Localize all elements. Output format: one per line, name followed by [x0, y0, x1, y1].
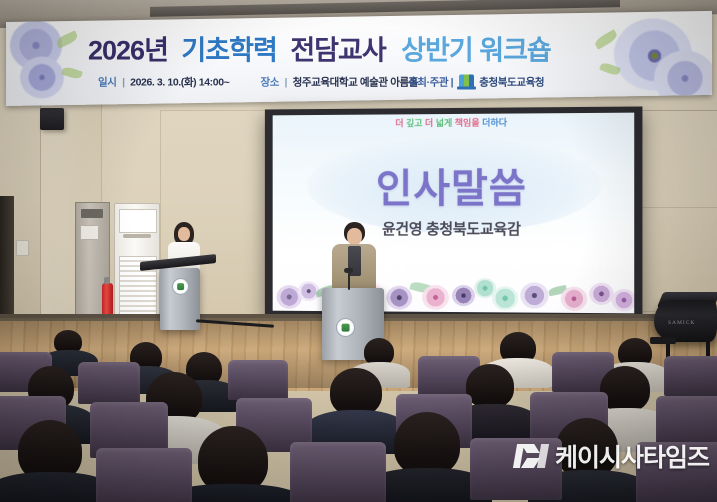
- piano-leg: [706, 336, 710, 358]
- side-podium-emblem-icon: [172, 278, 189, 295]
- banner-separator: |: [285, 76, 288, 88]
- event-banner: 2026년 기초학력 전담교사 상반기 워크숍 일시 | 2026. 3. 10…: [6, 11, 712, 106]
- slogan-word-3: 더: [425, 118, 433, 128]
- pansy-flower: [520, 282, 548, 308]
- slogan-word-5: 책임을: [455, 118, 480, 128]
- slogan-word-2: 깊고: [406, 118, 422, 128]
- speaker-face: [347, 228, 362, 245]
- slide-subtitle: 윤건영 충청북도교육감: [273, 218, 635, 239]
- banner-date-value: 2026. 3. 10.(화) 14:00~: [130, 76, 229, 88]
- banner-title-part-2: 기초학력: [181, 32, 276, 68]
- wall-panel: [640, 110, 717, 208]
- fire-extinguisher: [102, 283, 113, 315]
- auditorium-seat: [228, 360, 288, 400]
- pansy-flower: [386, 286, 412, 310]
- banner-separator: |: [451, 76, 454, 88]
- slogan-word-4: 넓게: [436, 118, 453, 128]
- k-logo-icon: [515, 441, 549, 471]
- banner-host-value: 충청북도교육청: [479, 76, 544, 88]
- ac-vent-slot: [123, 234, 151, 238]
- slogan-word-1: 더: [395, 118, 403, 128]
- auditorium-seat: [96, 448, 192, 502]
- wall-outlet-plate: [16, 240, 29, 256]
- watercolor-flower: [20, 56, 64, 98]
- watermark: 케이시사타임즈: [515, 438, 709, 474]
- banner-title-part-1: 2026년: [88, 32, 168, 68]
- main-podium-emblem-icon: [336, 318, 355, 337]
- piano-brand-label: SAMICK: [668, 320, 695, 326]
- pansy-flower: [452, 285, 475, 306]
- banner-host-label: 주최·주관: [408, 76, 448, 88]
- slide-slogan: 더 깊고 더 넓게 책임을 더하다: [273, 115, 635, 130]
- microphone-stem: [348, 272, 350, 290]
- door-sign: [80, 225, 99, 240]
- piano-bench: [650, 337, 676, 344]
- auditorium-seat: [290, 442, 386, 502]
- audience-head: [330, 368, 382, 416]
- moderator-face: [178, 227, 190, 241]
- pansy-flower: [589, 283, 614, 305]
- pansy-flower: [612, 289, 635, 311]
- auditorium-seat: [664, 356, 717, 396]
- banner-title-part-3: 전담교사: [290, 32, 385, 68]
- pansy-flower: [561, 287, 587, 311]
- pansy-flower: [422, 285, 449, 310]
- side-doorway: [0, 196, 14, 318]
- photo-canvas: 2026년 기초학력 전담교사 상반기 워크숍 일시 | 2026. 3. 10…: [0, 0, 717, 502]
- watercolor-leaf: [61, 66, 83, 81]
- banner-date-label: 일시: [98, 76, 117, 88]
- banner-title-part-4: 상반기 워크숍: [401, 32, 551, 68]
- slogan-word-6: 더하다: [482, 118, 507, 128]
- banner-subtitle: 일시 | 2026. 3. 10.(화) 14:00~ 장소 | 청주교육대학교…: [98, 74, 418, 89]
- projection-screen: 더 깊고 더 넓게 책임을 더하다 인사말씀 윤건영 충청북도교육감: [273, 113, 635, 314]
- slide-title: 인사말씀: [273, 155, 635, 214]
- wall-speaker: [40, 108, 64, 130]
- audience-head: [394, 412, 460, 476]
- chungbuk-office-of-education-logo-icon: [459, 74, 474, 87]
- audience-head: [466, 364, 514, 408]
- pansy-flower: [492, 286, 518, 310]
- banner-title: 2026년 기초학력 전담교사 상반기 워크숍: [88, 32, 608, 68]
- watermark-text: 케이시사타임즈: [555, 438, 709, 474]
- door-window: [81, 209, 103, 218]
- banner-separator: |: [122, 76, 125, 88]
- ac-display-panel: [119, 209, 157, 233]
- auditorium-seat: [78, 362, 140, 404]
- banner-host-line: 주최·주관 | 충청북도교육청: [408, 74, 544, 89]
- banner-place-value: 청주교육대학교 예술관 아름홀: [293, 76, 418, 88]
- banner-place-label: 장소: [260, 76, 279, 88]
- microphone-head: [344, 268, 353, 273]
